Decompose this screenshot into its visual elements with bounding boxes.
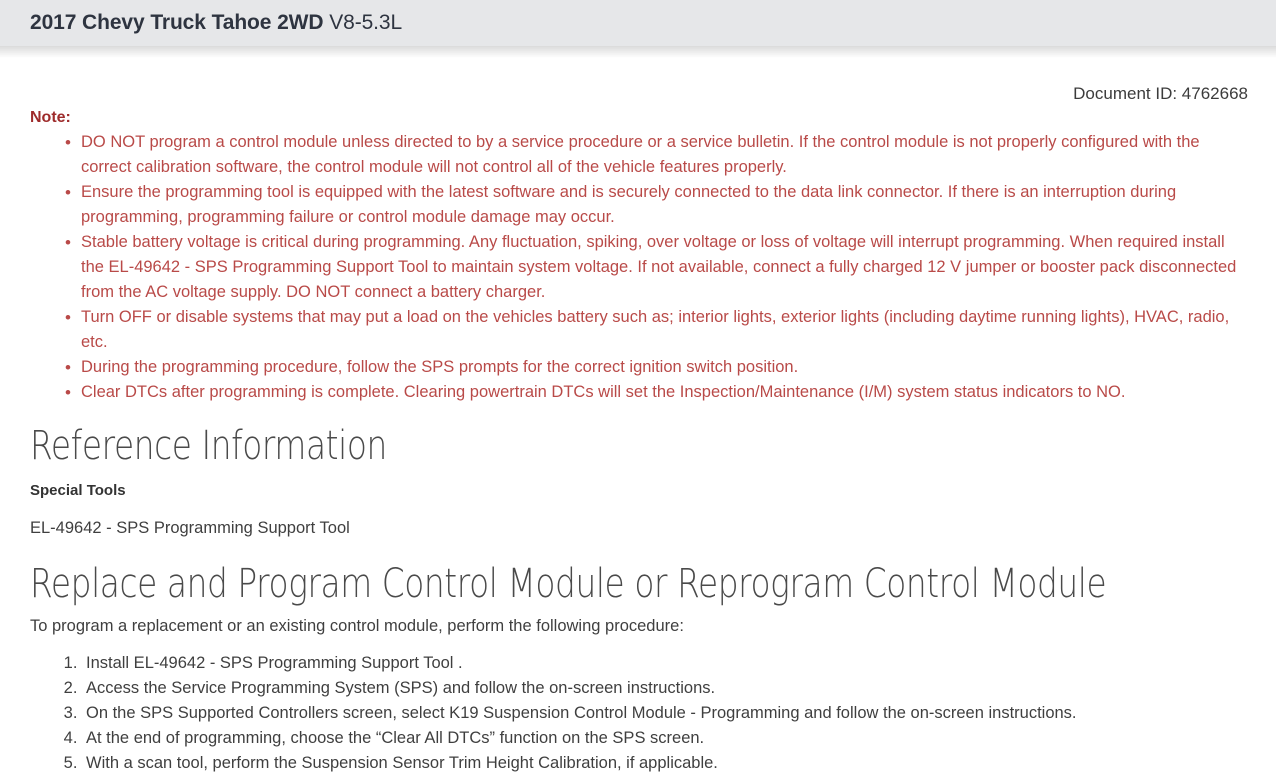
list-item: At the end of programming, choose the “C…	[82, 726, 1248, 751]
list-item: Access the Service Programming System (S…	[82, 676, 1248, 701]
vehicle-name: 2017 Chevy Truck Tahoe 2WD	[30, 11, 323, 34]
list-item: Turn OFF or disable systems that may put…	[30, 305, 1248, 355]
vehicle-engine: V8-5.3L	[329, 11, 402, 34]
list-item: During the programming procedure, follow…	[30, 355, 1248, 380]
list-item: Clear DTCs after programming is complete…	[30, 380, 1248, 405]
special-tool-item: EL-49642 - SPS Programming Support Tool	[30, 517, 1248, 539]
list-item: Install EL-49642 - SPS Programming Suppo…	[82, 651, 1248, 676]
document-body: Document ID: 4762668 Note: DO NOT progra…	[0, 46, 1276, 776]
procedure-intro: To program a replacement or an existing …	[30, 615, 1248, 637]
page-title: 2017 Chevy Truck Tahoe 2WD V8-5.3L	[30, 11, 402, 35]
reference-information-heading: Reference Information	[30, 423, 1029, 469]
procedure-steps-list: Install EL-49642 - SPS Programming Suppo…	[30, 651, 1248, 776]
note-label: Note:	[30, 108, 1248, 128]
list-item: With a scan tool, perform the Suspension…	[82, 751, 1248, 776]
list-item: Ensure the programming tool is equipped …	[30, 180, 1248, 230]
procedure-heading: Replace and Program Control Module or Re…	[30, 561, 1029, 607]
list-item: On the SPS Supported Controllers screen,…	[82, 701, 1248, 726]
note-block: Note: DO NOT program a control module un…	[30, 108, 1248, 405]
vehicle-header-bar: 2017 Chevy Truck Tahoe 2WD V8-5.3L	[0, 0, 1276, 46]
note-list: DO NOT program a control module unless d…	[30, 130, 1248, 405]
document-id: Document ID: 4762668	[30, 46, 1248, 104]
list-item: DO NOT program a control module unless d…	[30, 130, 1248, 180]
special-tools-heading: Special Tools	[30, 481, 1248, 501]
list-item: Stable battery voltage is critical durin…	[30, 230, 1248, 305]
